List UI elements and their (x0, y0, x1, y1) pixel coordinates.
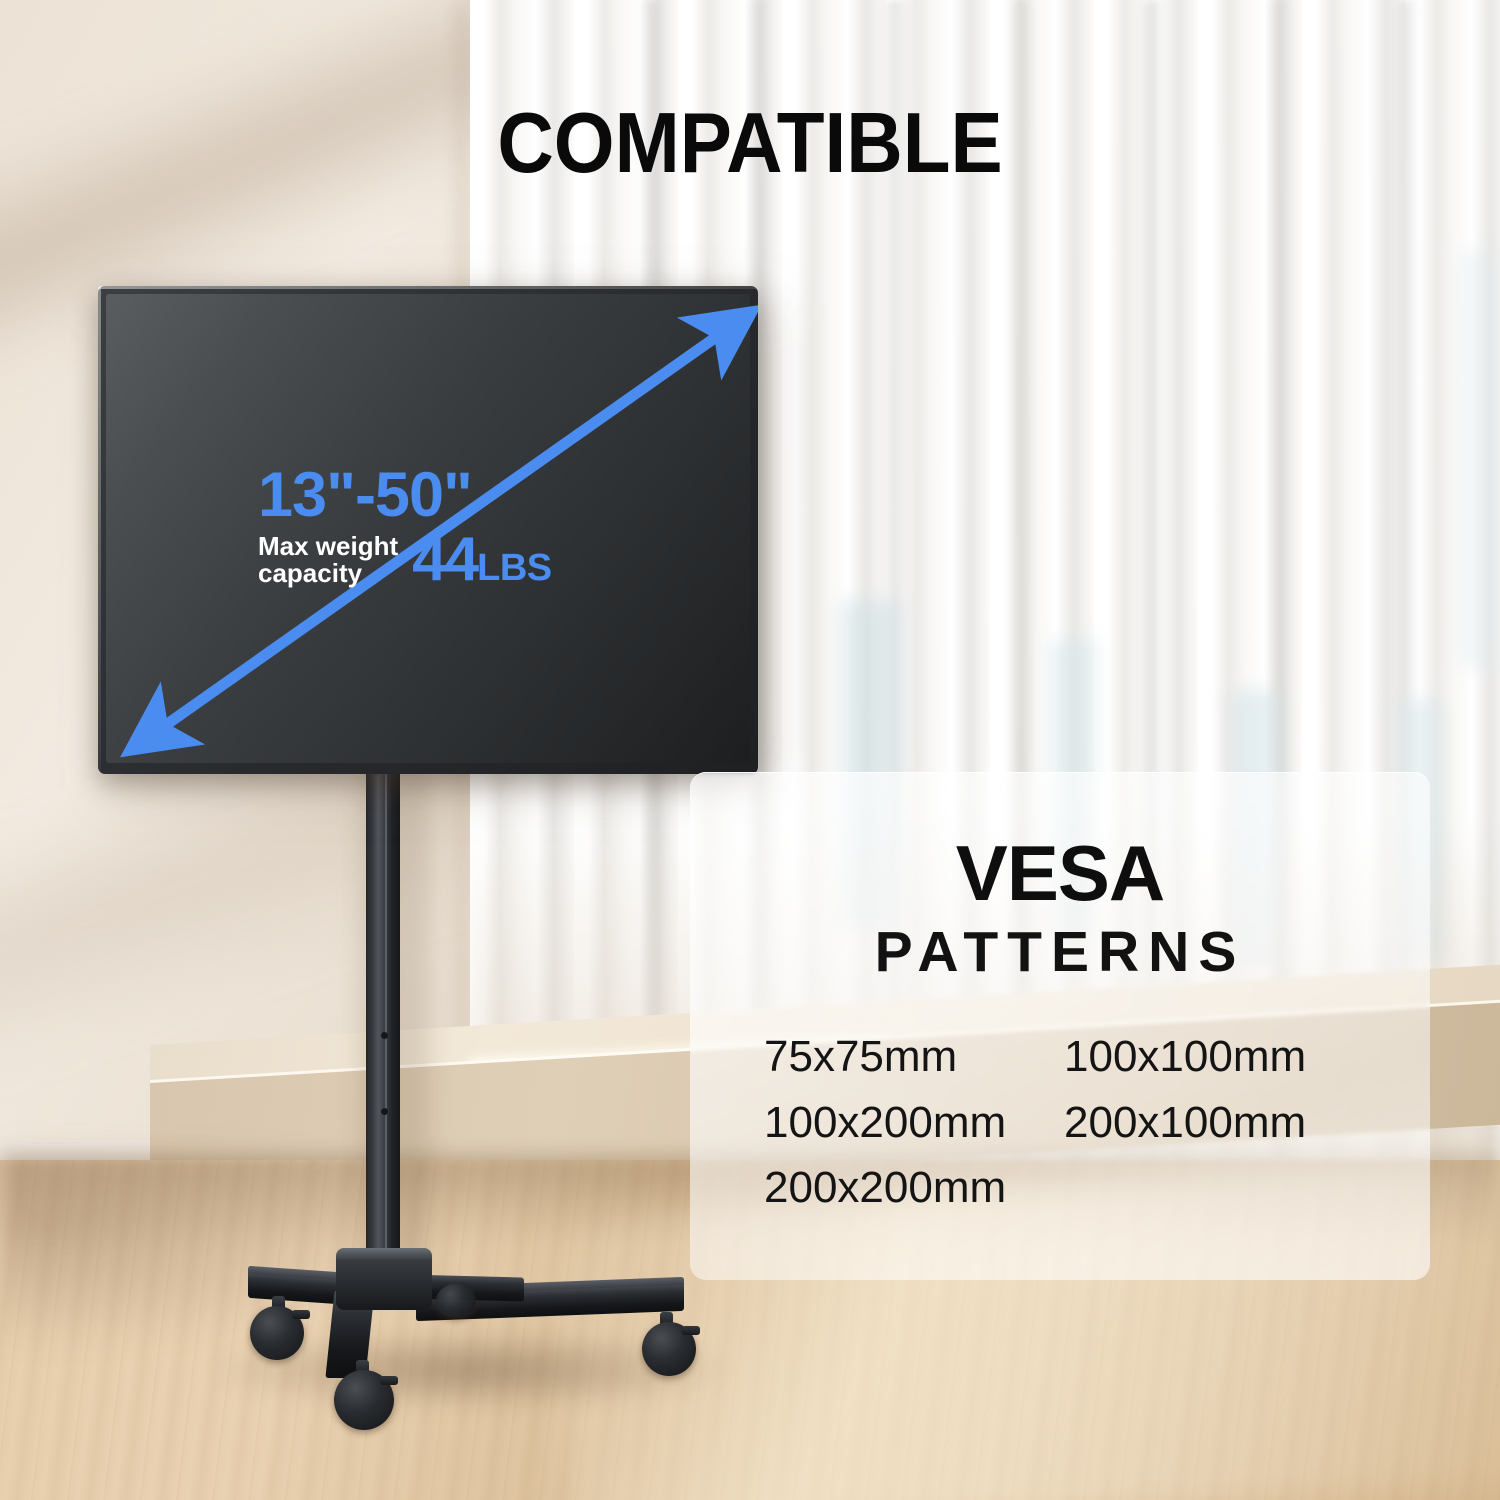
vesa-info-panel: VESA PATTERNS 75x75mm 100x100mm 100x200m… (690, 772, 1430, 1280)
vesa-pattern: 100x100mm (1064, 1024, 1306, 1090)
vesa-pattern-list: 75x75mm 100x100mm 100x200mm 200x100mm 20… (764, 1024, 1384, 1221)
vesa-row: 200x200mm (764, 1155, 1384, 1221)
vesa-subtitle: PATTERNS (690, 924, 1430, 981)
vesa-pattern: 100x200mm (764, 1090, 1064, 1156)
vesa-title: VESA (690, 834, 1430, 912)
tv-display-surface (106, 294, 750, 763)
product-marketing-image: COMPATIBLE (0, 0, 1500, 1500)
stand-pole (366, 770, 400, 1275)
tv-bezel-top-highlight (98, 286, 758, 289)
vesa-row: 100x200mm 200x100mm (764, 1090, 1384, 1156)
vesa-pattern: 200x200mm (764, 1155, 1064, 1221)
caster-wheel-center-rear (436, 1284, 476, 1318)
pole-seam-highlight (385, 772, 387, 1272)
tv-screen: 13"-50" Max weight capacity 44 LBS (98, 286, 758, 774)
base-center-hub (336, 1252, 432, 1310)
vesa-row: 75x75mm 100x100mm (764, 1024, 1384, 1090)
tv-bezel-left-highlight (98, 286, 101, 774)
page-title: COMPATIBLE (60, 101, 1440, 186)
vesa-pattern: 75x75mm (764, 1024, 1064, 1090)
vesa-pattern: 200x100mm (1064, 1090, 1306, 1156)
